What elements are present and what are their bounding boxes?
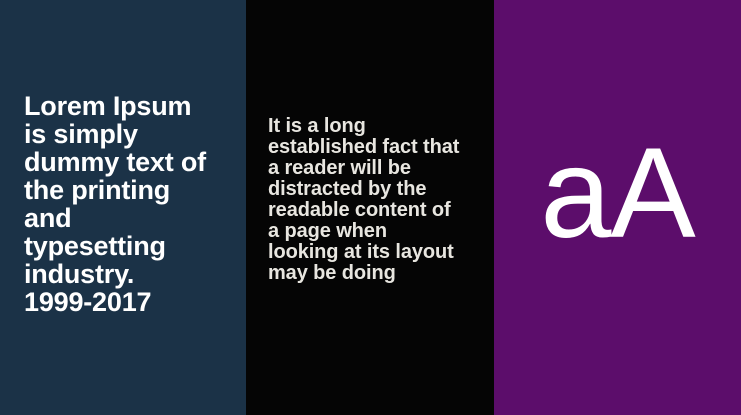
slide-canvas: Lorem Ipsum is simply dummy text of the … bbox=[0, 0, 741, 415]
purple-panel: aA bbox=[494, 0, 741, 415]
panel-middle-body-text: It is a long established fact that a rea… bbox=[268, 116, 478, 284]
black-panel: It is a long established fact that a rea… bbox=[246, 0, 494, 415]
panel-left-headline: Lorem Ipsum is simply dummy text of the … bbox=[24, 92, 239, 288]
navy-panel: Lorem Ipsum is simply dummy text of the … bbox=[0, 0, 246, 415]
panel-left-year-range: 1999-2017 bbox=[24, 288, 151, 316]
panel-right-glyph-pair: aA bbox=[494, 130, 741, 258]
